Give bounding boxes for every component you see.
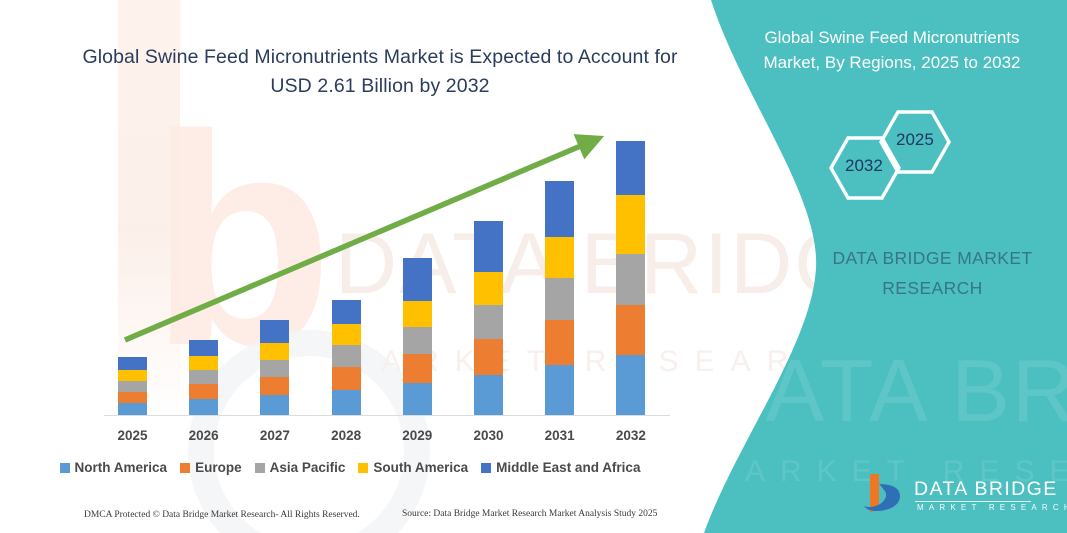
legend-label: Asia Pacific <box>270 460 346 475</box>
hexagon-badges: 2025 2032 <box>826 104 986 204</box>
stacked-bar-chart: 20252026202720282029203020312032 North A… <box>0 0 700 480</box>
right-panel-title: Global Swine Feed Micronutrients Market,… <box>742 25 1042 75</box>
footer-copyright: DMCA Protected © Data Bridge Market Rese… <box>84 510 360 520</box>
logo-mark-icon <box>862 472 910 518</box>
hexagon-label-2025: 2025 <box>896 130 934 150</box>
growth-arrow <box>0 0 700 480</box>
hexagon-label-2032: 2032 <box>845 156 883 176</box>
data-bridge-logo: DATA BRIDGE MARKET RESEARCH <box>862 472 1037 522</box>
legend-label: South America <box>373 460 468 475</box>
hexagon-outlines <box>826 104 986 204</box>
legend-label: North America <box>75 460 168 475</box>
legend-item-south-america: South America <box>358 460 468 475</box>
chart-legend: North AmericaEuropeAsia PacificSouth Ame… <box>0 460 700 475</box>
legend-item-middle-east-and-africa: Middle East and Africa <box>481 460 640 475</box>
right-panel-brand: DATA BRIDGE MARKET RESEARCH <box>760 243 1067 303</box>
infographic-root: b DATA BRIDGE MARKET RESEARCH DATA BRIDG… <box>0 0 1067 533</box>
legend-swatch <box>358 463 368 473</box>
legend-item-north-america: North America <box>60 460 168 475</box>
teal-watermark-line1: DATA BRIDGE <box>700 340 1067 442</box>
logo-title: DATA BRIDGE <box>914 478 1058 501</box>
legend-item-asia-pacific: Asia Pacific <box>255 460 346 475</box>
legend-swatch <box>255 463 265 473</box>
brand-line-2: RESEARCH <box>882 278 982 298</box>
legend-label: Middle East and Africa <box>496 460 640 475</box>
legend-swatch <box>180 463 190 473</box>
footer-source: Source: Data Bridge Market Research Mark… <box>402 509 657 519</box>
logo-subtitle: MARKET RESEARCH <box>917 503 1067 512</box>
logo-divider <box>915 501 1031 502</box>
legend-item-europe: Europe <box>180 460 242 475</box>
brand-line-1: DATA BRIDGE MARKET <box>832 248 1032 268</box>
legend-label: Europe <box>195 460 242 475</box>
legend-swatch <box>481 463 491 473</box>
legend-swatch <box>60 463 70 473</box>
